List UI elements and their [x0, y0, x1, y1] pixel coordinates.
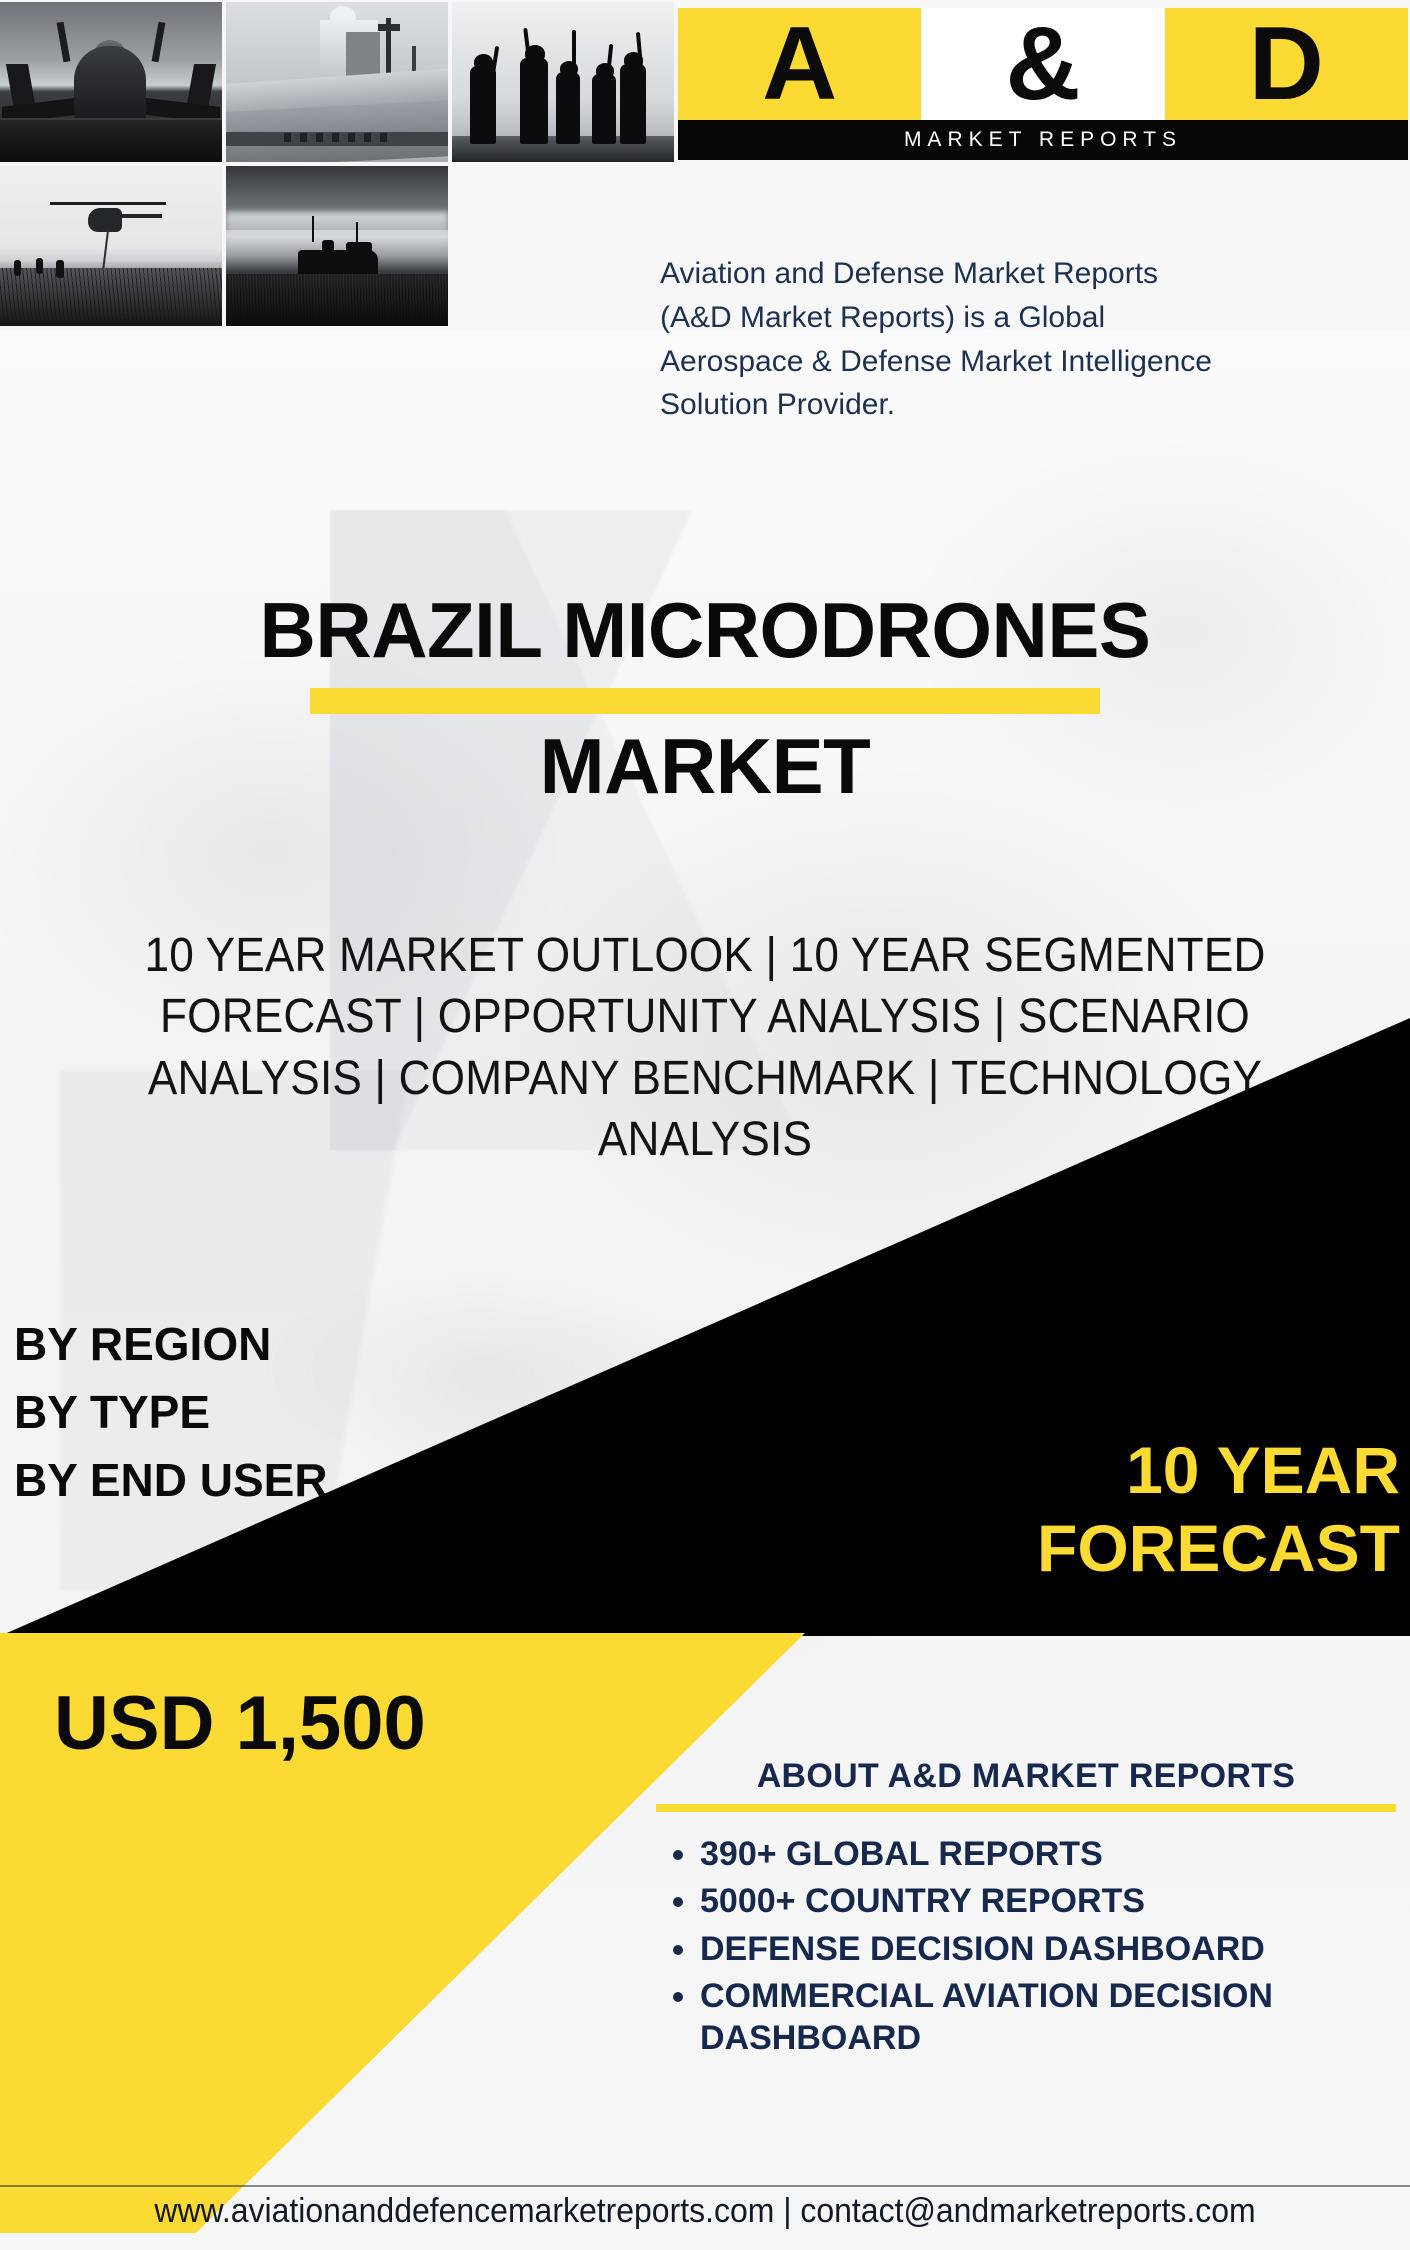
forecast-badge: 10 YEAR FORECAST — [660, 1432, 1400, 1588]
intro-line-4: Solution Provider. — [660, 383, 1410, 427]
price-value: USD 1,500 — [54, 1680, 426, 1767]
segmentation-list: BY REGION BY TYPE BY END USER — [14, 1310, 328, 1514]
intro-line-2: (A&D Market Reports) is a Global — [660, 296, 1410, 340]
intro-line-1: Aviation and Defense Market Reports — [660, 252, 1410, 296]
segmentation-item-type: BY TYPE — [14, 1378, 328, 1446]
logo-letter-row: A & D — [678, 8, 1408, 120]
title-accent-rule — [310, 688, 1100, 714]
helicopter-photo — [0, 166, 222, 326]
list-item: 5000+ COUNTRY REPORTS — [700, 1881, 1396, 1922]
fighter-jet-photo — [0, 2, 222, 162]
company-intro-paragraph: Aviation and Defense Market Reports (A&D… — [660, 252, 1410, 427]
logo-letter-d: D — [1165, 8, 1408, 120]
forecast-badge-line-1: 10 YEAR — [660, 1432, 1400, 1510]
list-item: COMMERCIAL AVIATION DECISION DASHBOARD — [700, 1976, 1396, 2059]
list-item: DEFENSE DECISION DASHBOARD — [700, 1929, 1396, 1970]
about-section: ABOUT A&D MARKET REPORTS 390+ GLOBAL REP… — [656, 1757, 1396, 2065]
logo-letter-a: A — [678, 8, 921, 120]
page-title-line-1: BRAZIL MICRODRONES — [0, 590, 1410, 672]
about-bullet-list: 390+ GLOBAL REPORTS 5000+ COUNTRY REPORT… — [700, 1834, 1396, 2059]
page-title-line-2: MARKET — [0, 724, 1410, 810]
segmentation-item-end-user: BY END USER — [14, 1446, 328, 1514]
intro-line-3: Aerospace & Defense Market Intelligence — [660, 340, 1410, 384]
list-item: 390+ GLOBAL REPORTS — [700, 1834, 1396, 1875]
footer-divider — [0, 2185, 1410, 2187]
report-scope-subtitle: 10 YEAR MARKET OUTLOOK | 10 YEAR SEGMENT… — [91, 925, 1318, 1171]
forecast-badge-line-2: FORECAST — [660, 1510, 1400, 1588]
report-title-block: BRAZIL MICRODRONES MARKET — [0, 590, 1410, 810]
footer-contact: www.aviationanddefencemarketreports.com … — [42, 2192, 1367, 2231]
aircraft-carrier-photo — [226, 2, 448, 162]
segmentation-item-region: BY REGION — [14, 1310, 328, 1378]
soldiers-photo — [452, 2, 674, 162]
about-heading-underline — [656, 1804, 1396, 1812]
armored-vehicle-photo — [226, 166, 448, 326]
logo-tagline-bar: MARKET REPORTS — [678, 120, 1408, 160]
about-heading: ABOUT A&D MARKET REPORTS — [656, 1757, 1396, 1796]
brand-logo: A & D MARKET REPORTS — [678, 2, 1408, 162]
logo-tagline: MARKET REPORTS — [904, 128, 1182, 152]
logo-letter-ampersand: & — [921, 8, 1164, 120]
